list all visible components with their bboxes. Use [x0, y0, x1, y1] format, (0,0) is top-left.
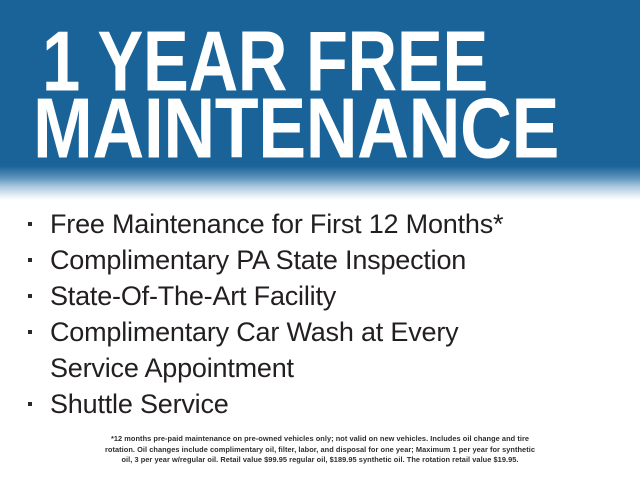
list-item: Complimentary PA State Inspection	[0, 242, 640, 278]
headline-line-2: MAINTENANCE	[33, 85, 559, 166]
banner-gradient-fade	[0, 166, 640, 200]
list-item-label: Complimentary PA State Inspection	[50, 244, 466, 276]
bullet-square-icon	[28, 294, 32, 298]
disclaimer-line-3: oil, 3 per year w/regular oil. Retail va…	[40, 455, 600, 466]
service-offer-advertisement: 1 YEAR FREE MAINTENANCE Free Maintenance…	[0, 0, 640, 480]
list-item: State-Of-The-Art Facility	[0, 278, 640, 314]
disclaimer-line-2: rotation. Oil changes include compliment…	[40, 445, 600, 456]
bullet-square-icon	[28, 258, 32, 262]
bullet-square-icon	[28, 330, 32, 334]
list-item-label: Free Maintenance for First 12 Months*	[50, 208, 503, 240]
offer-list: Free Maintenance for First 12 Months* Co…	[0, 206, 640, 422]
list-item: Complimentary Car Wash at Every	[0, 314, 640, 350]
bullet-square-icon	[28, 402, 32, 406]
list-item: Shuttle Service	[0, 386, 640, 422]
list-item-continuation: Service Appointment	[0, 350, 640, 386]
header-banner: 1 YEAR FREE MAINTENANCE	[0, 0, 640, 166]
list-item-label: Complimentary Car Wash at Every	[50, 316, 458, 348]
list-item: Free Maintenance for First 12 Months*	[0, 206, 640, 242]
list-item-label: State-Of-The-Art Facility	[50, 280, 336, 312]
list-item-label: Service Appointment	[50, 352, 294, 384]
list-item-label: Shuttle Service	[50, 388, 229, 420]
disclaimer-line-1: *12 months pre-paid maintenance on pre-o…	[40, 434, 600, 445]
bullet-square-icon	[28, 222, 32, 226]
disclaimer: *12 months pre-paid maintenance on pre-o…	[40, 434, 600, 466]
